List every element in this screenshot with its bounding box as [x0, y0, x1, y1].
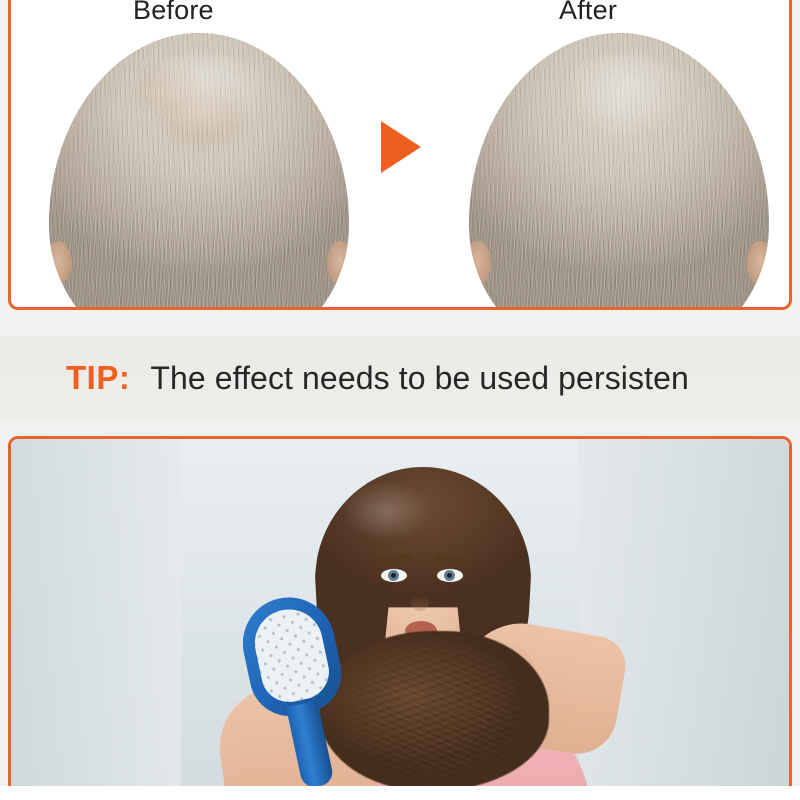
tip-label: TIP: — [66, 359, 130, 397]
woman-figure — [211, 445, 631, 800]
shed-hair-clump — [319, 631, 549, 791]
before-photo — [29, 29, 369, 309]
tip-banner: TIP: The effect needs to be used persist… — [0, 336, 800, 420]
bottom-white-strip — [0, 786, 800, 800]
crown-highlight-after — [559, 53, 691, 139]
bottom-photo-panel — [8, 436, 792, 800]
ear-right-icon-after — [747, 241, 769, 285]
crown-highlight — [139, 53, 271, 139]
nose — [411, 585, 429, 611]
eye-right — [437, 569, 463, 582]
tip-text: The effect needs to be used persisten — [150, 360, 689, 397]
ear-right-icon — [327, 241, 349, 285]
right-triangle-arrow-icon — [381, 121, 421, 173]
head-after — [469, 33, 769, 309]
before-after-panel: Before After — [8, 0, 792, 310]
before-label: Before — [133, 0, 214, 26]
head-before — [49, 33, 349, 309]
brush-bristle-pad — [249, 603, 335, 707]
after-photo — [449, 29, 789, 309]
eye-left — [381, 569, 407, 582]
hair-highlight — [341, 481, 431, 541]
after-label: After — [559, 0, 617, 26]
advertisement-image: Before After — [0, 0, 800, 800]
